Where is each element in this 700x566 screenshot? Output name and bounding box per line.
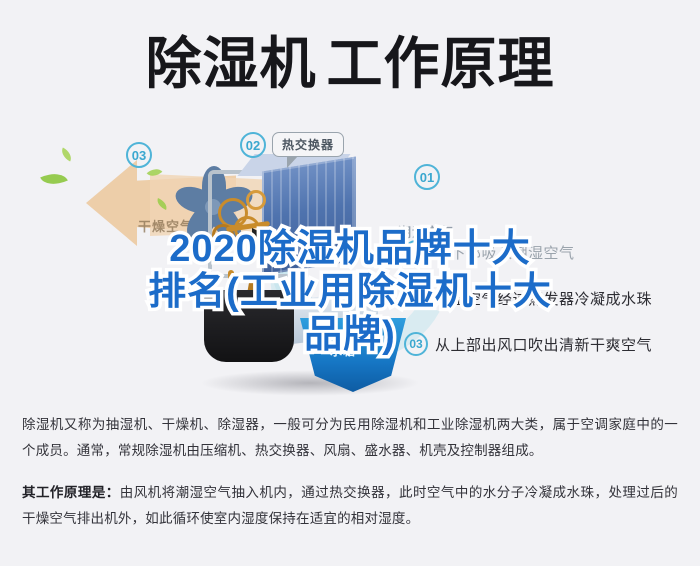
legend-number: 01 — [404, 240, 428, 264]
legend-item: 02 潮湿空气经过蒸发器冷凝成水珠 — [404, 286, 694, 310]
paragraph-2: 其工作原理是：由风机将潮湿空气抽入机内，通过热交换器，此时空气中的水分子冷凝成水… — [22, 480, 678, 532]
step-badge-03: 03 — [126, 142, 152, 168]
wet-air-label: 潮湿空气 — [398, 222, 454, 241]
water-tank-label: 水箱 — [330, 342, 356, 359]
page-title: 除湿机工作原理 — [146, 36, 555, 92]
steps-legend: 01 从下部吸入潮湿空气 02 潮湿空气经过蒸发器冷凝成水珠 03 从上部出风口… — [404, 240, 694, 378]
legend-label: 潮湿空气经过蒸发器冷凝成水珠 — [435, 288, 652, 309]
title-band: 除湿机工作原理 — [0, 0, 700, 128]
airflow-arrow-icon — [252, 228, 266, 242]
step-badge-02: 02 — [240, 132, 266, 158]
legend-label: 从上部出风口吹出清新干爽空气 — [435, 334, 652, 355]
page-root: 除湿机工作原理 干燥空气 — [0, 0, 700, 566]
leaf-icon — [59, 147, 75, 161]
heat-exchanger-callout: 热交换器 — [272, 132, 344, 157]
paragraph-2-lead: 其工作原理是： — [22, 485, 120, 500]
paragraph-1: 除湿机又称为抽湿机、干燥机、除湿器，一般可分为民用除湿机和工业除湿机两大类，属于… — [22, 412, 678, 464]
legend-number: 02 — [404, 286, 428, 310]
legend-label: 从下部吸入潮湿空气 — [435, 242, 575, 263]
legend-item: 03 从上部出风口吹出清新干爽空气 — [404, 332, 694, 356]
heat-exchanger-fins-icon — [262, 157, 356, 276]
compressor-icon — [204, 290, 294, 362]
copper-coil-icon — [246, 190, 266, 210]
title-part-2: 工作原理 — [327, 32, 555, 95]
dehumidifier-diagram: 干燥空气 水箱 热交换器 03 02 — [0, 120, 700, 410]
leaf-icon — [40, 168, 68, 191]
article-body: 除湿机又称为抽湿机、干燥机、除湿器，一般可分为民用除湿机和工业除湿机两大类，属于… — [0, 412, 700, 532]
legend-number: 03 — [404, 332, 428, 356]
paragraph-2-rest: 由风机将潮湿空气抽入机内，通过热交换器，此时空气中的水分子冷凝成水珠，处理过后的… — [22, 485, 678, 526]
title-part-1: 除湿机 — [146, 32, 317, 95]
step-badge-01: 01 — [414, 164, 440, 190]
legend-item: 01 从下部吸入潮湿空气 — [404, 240, 694, 264]
